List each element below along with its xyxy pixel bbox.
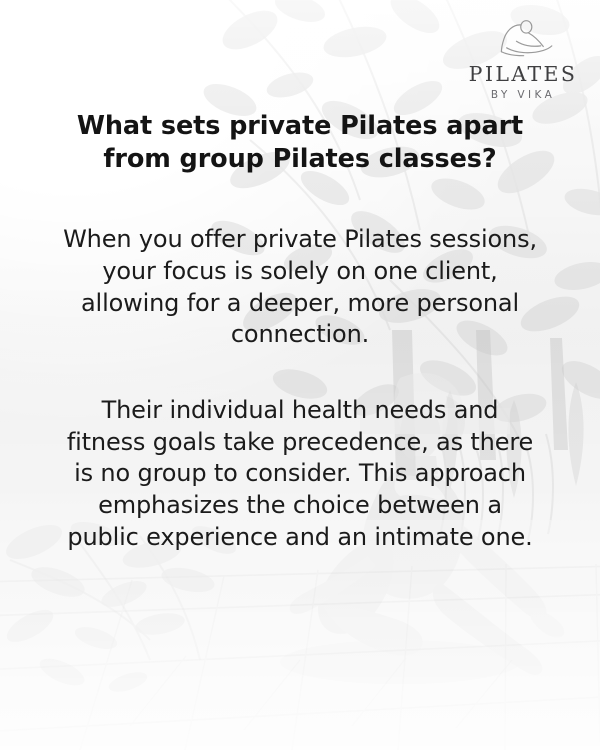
page-headline: What sets private Pilates apart from gro… [74,110,526,176]
paragraph-2: Their individual health needs and fitnes… [63,395,537,553]
body-copy: When you offer private Pilates sessions,… [63,224,537,553]
brand-logo: PILATES BY VIKA [464,16,582,100]
pilates-figure-icon [487,16,559,60]
brand-wordmark: PILATES [464,64,582,85]
poster: PILATES BY VIKA What sets private Pilate… [0,0,600,750]
paragraph-1: When you offer private Pilates sessions,… [63,224,537,351]
brand-tagline: BY VIKA [464,90,582,101]
